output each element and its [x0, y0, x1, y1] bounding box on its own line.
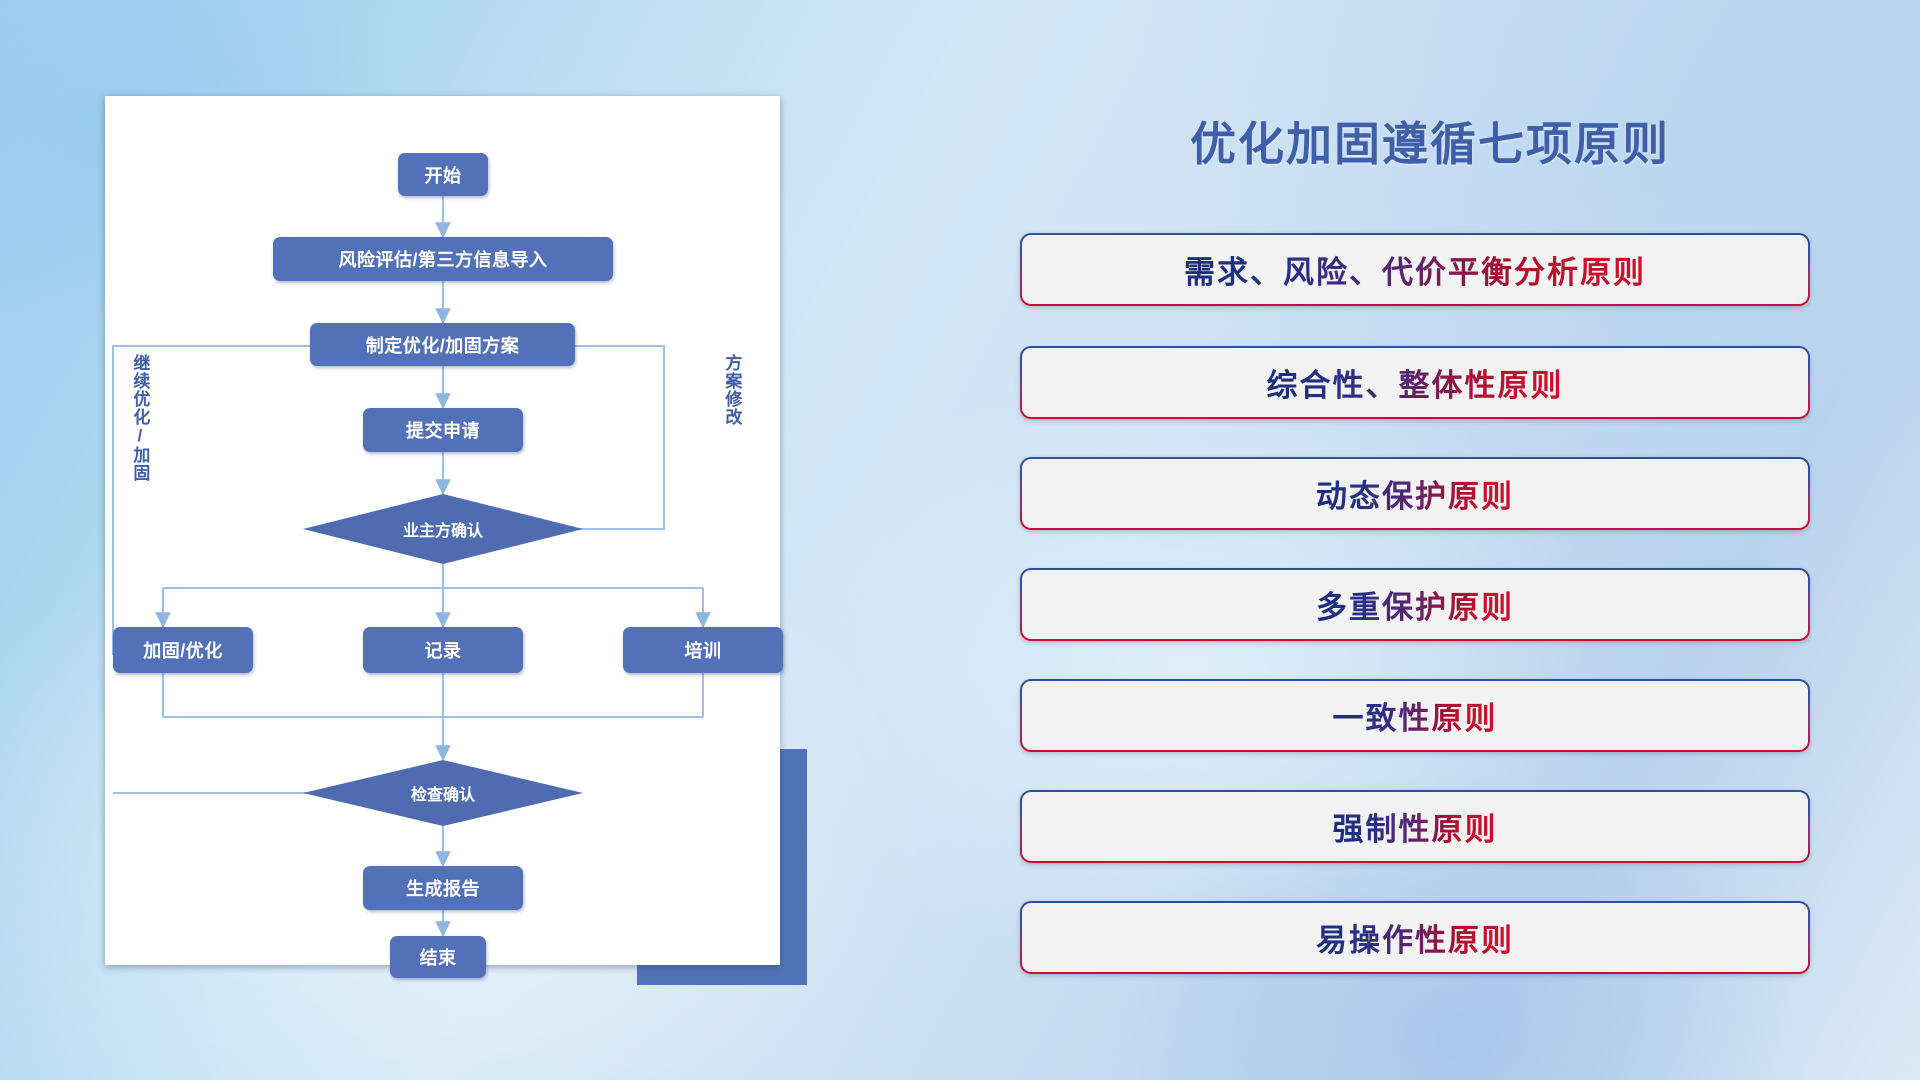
flow-decision-inspection-confirm-label: 检查确认	[411, 781, 475, 805]
principle-card-4[interactable]: 多重保护原则	[1020, 568, 1810, 641]
flow-edge-label-continue-optimize: 继续优化/加固	[131, 354, 148, 482]
flow-decision-owner-confirm-label: 业主方确认	[403, 517, 483, 541]
principle-card-1-label: 需求、风险、代价平衡分析原则	[1184, 247, 1646, 292]
flow-node-generate-report-label: 生成报告	[406, 875, 480, 901]
principle-card-6-label: 强制性原则	[1333, 804, 1498, 849]
principle-card-7[interactable]: 易操作性原则	[1020, 901, 1810, 974]
flow-node-start-label: 开始	[425, 162, 462, 188]
flow-node-submit-application-label: 提交申请	[406, 417, 480, 443]
flow-node-risk-assessment-label: 风险评估/第三方信息导入	[339, 246, 548, 272]
flowchart-panel: 开始 风险评估/第三方信息导入 制定优化/加固方案 提交申请 业主方确认 加固/…	[105, 96, 780, 965]
flow-node-record[interactable]: 记录	[363, 627, 523, 673]
principle-card-1[interactable]: 需求、风险、代价平衡分析原则	[1020, 233, 1810, 306]
flow-node-end-label: 结束	[420, 944, 457, 970]
principle-card-6[interactable]: 强制性原则	[1020, 790, 1810, 863]
flow-node-reinforce-optimize[interactable]: 加固/优化	[113, 627, 253, 673]
principle-card-5[interactable]: 一致性原则	[1020, 679, 1810, 752]
flow-node-plan-label: 制定优化/加固方案	[366, 332, 520, 358]
principle-card-3-label: 动态保护原则	[1316, 471, 1514, 516]
principle-card-7-label: 易操作性原则	[1316, 915, 1514, 960]
principles-region: 优化加固遵循七项原则 需求、风险、代价平衡分析原则 综合性、整体性原则 动态保护…	[1020, 0, 1920, 1080]
flow-edge-label-plan-revision: 方案修改	[723, 354, 740, 426]
principle-card-2[interactable]: 综合性、整体性原则	[1020, 346, 1810, 419]
principle-card-5-label: 一致性原则	[1333, 693, 1498, 738]
principles-title: 优化加固遵循七项原则	[1020, 108, 1840, 174]
flow-node-end[interactable]: 结束	[390, 936, 486, 978]
flow-node-submit-application[interactable]: 提交申请	[363, 408, 523, 452]
principle-card-4-label: 多重保护原则	[1316, 582, 1514, 627]
flow-node-record-label: 记录	[425, 637, 462, 663]
flow-node-training[interactable]: 培训	[623, 627, 783, 673]
flow-node-plan[interactable]: 制定优化/加固方案	[310, 323, 575, 366]
principle-card-2-label: 综合性、整体性原则	[1267, 360, 1564, 405]
flow-node-reinforce-optimize-label: 加固/优化	[143, 637, 223, 663]
flow-node-training-label: 培训	[685, 637, 722, 663]
flow-node-generate-report[interactable]: 生成报告	[363, 866, 523, 910]
principle-card-3[interactable]: 动态保护原则	[1020, 457, 1810, 530]
flow-node-risk-assessment[interactable]: 风险评估/第三方信息导入	[273, 237, 613, 281]
flow-node-start[interactable]: 开始	[398, 153, 488, 196]
